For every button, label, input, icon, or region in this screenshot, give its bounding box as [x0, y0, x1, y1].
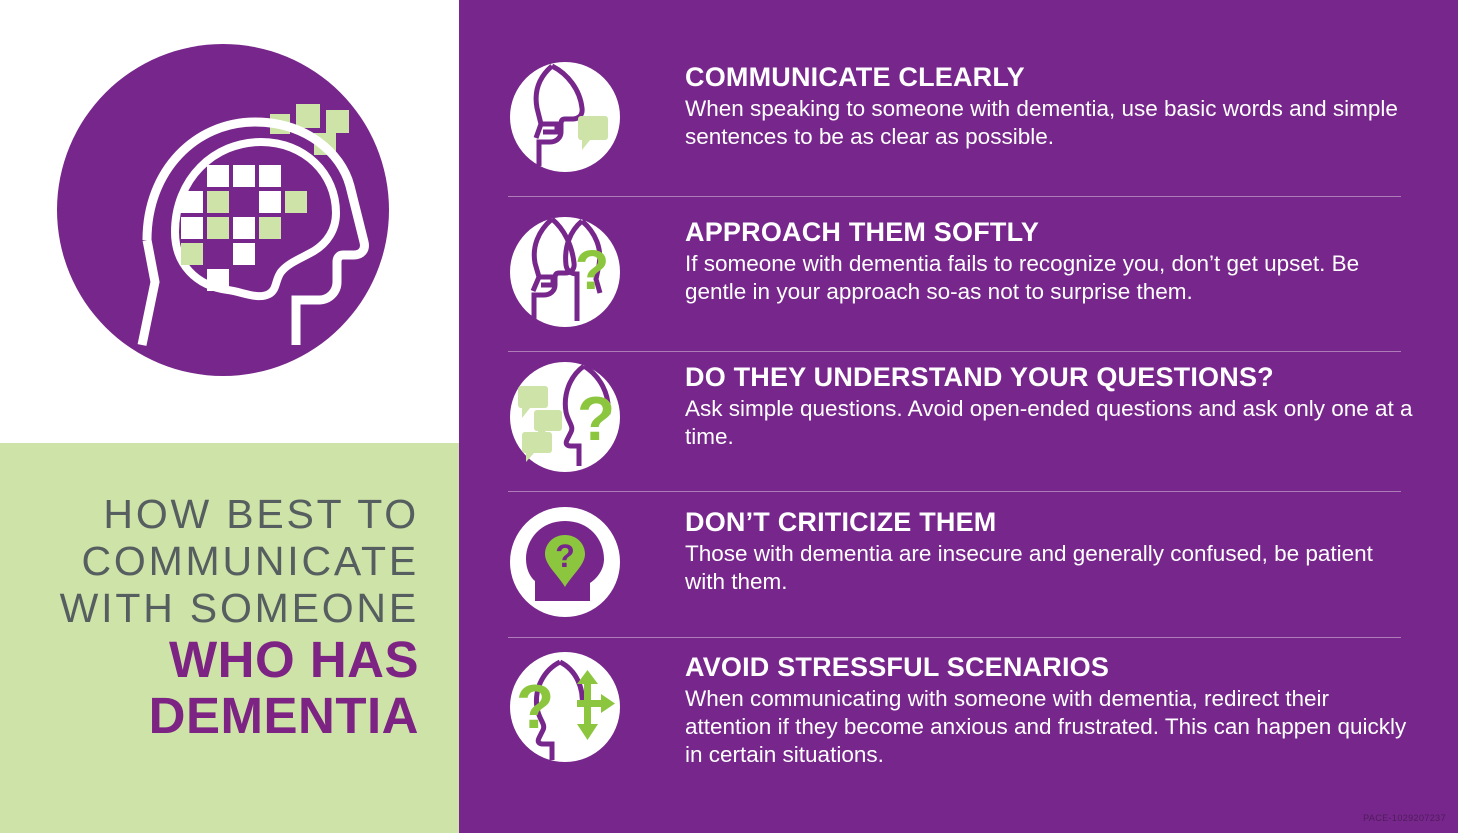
divider-1 [508, 196, 1401, 197]
svg-text:?: ? [575, 238, 609, 301]
divider-4 [508, 637, 1401, 638]
head-brain-pixels-logo [0, 0, 459, 443]
tip-body-2: If someone with dementia fails to recogn… [685, 250, 1418, 306]
svg-text:?: ? [555, 538, 575, 574]
title-line-4: WHO HAS [0, 632, 419, 688]
tip-text-5: AVOID STRESSFUL SCENARIOS When communica… [622, 648, 1418, 769]
title-line-3: WITH SOMEONE [0, 585, 419, 632]
left-column: HOW BEST TO COMMUNICATE WITH SOMEONE WHO… [0, 0, 459, 833]
infographic-canvas: HOW BEST TO COMMUNICATE WITH SOMEONE WHO… [0, 0, 1458, 833]
tip-body-1: When speaking to someone with dementia, … [685, 95, 1418, 151]
tips-column: COMMUNICATE CLEARLY When speaking to som… [459, 0, 1458, 833]
divider-3 [508, 491, 1401, 492]
speech-bubbles-question-head-icon: ? [508, 360, 622, 474]
tip-title-5: AVOID STRESSFUL SCENARIOS [685, 652, 1418, 683]
watermark: PACE-1029207237 [1363, 813, 1446, 823]
tip-text-3: DO THEY UNDERSTAND YOUR QUESTIONS? Ask s… [622, 358, 1418, 451]
svg-text:?: ? [516, 673, 554, 742]
tip-item-2: ? APPROACH THEM SOFTLY If someone with d… [508, 213, 1418, 329]
page-title: HOW BEST TO COMMUNICATE WITH SOMEONE WHO… [0, 491, 459, 744]
title-panel: HOW BEST TO COMMUNICATE WITH SOMEONE WHO… [0, 443, 459, 833]
divider-2 [508, 351, 1401, 352]
tip-item-5: ? AVOID STRESSFUL SCENARIOS When communi… [508, 648, 1418, 769]
two-heads-question-icon: ? [508, 215, 622, 329]
title-line-5: DEMENTIA [0, 688, 419, 744]
tip-item-1: COMMUNICATE CLEARLY When speaking to som… [508, 58, 1418, 174]
title-line-1: HOW BEST TO [0, 491, 419, 538]
tip-title-2: APPROACH THEM SOFTLY [685, 217, 1418, 248]
tip-body-3: Ask simple questions. Avoid open-ended q… [685, 395, 1418, 451]
tip-item-3: ? DO THEY UNDERSTAND YOUR QUESTIONS? Ask… [508, 358, 1418, 474]
tip-body-5: When communicating with someone with dem… [685, 685, 1418, 769]
tip-body-4: Those with dementia are insecure and gen… [685, 540, 1418, 596]
tip-title-4: DON’T CRITICIZE THEM [685, 507, 1418, 538]
tip-text-4: DON’T CRITICIZE THEM Those with dementia… [622, 503, 1418, 596]
title-line-2: COMMUNICATE [0, 538, 419, 585]
tip-text-1: COMMUNICATE CLEARLY When speaking to som… [622, 58, 1418, 151]
head-question-pin-icon: ? [508, 505, 622, 619]
logo-area [0, 0, 459, 443]
tip-title-1: COMMUNICATE CLEARLY [685, 62, 1418, 93]
head-question-arrows-icon: ? [508, 650, 622, 764]
svg-text:?: ? [577, 385, 615, 454]
tip-text-2: APPROACH THEM SOFTLY If someone with dem… [622, 213, 1418, 306]
tip-title-3: DO THEY UNDERSTAND YOUR QUESTIONS? [685, 362, 1418, 393]
speaking-head-icon [508, 60, 622, 174]
tip-item-4: ? DON’T CRITICIZE THEM Those with dement… [508, 503, 1418, 619]
